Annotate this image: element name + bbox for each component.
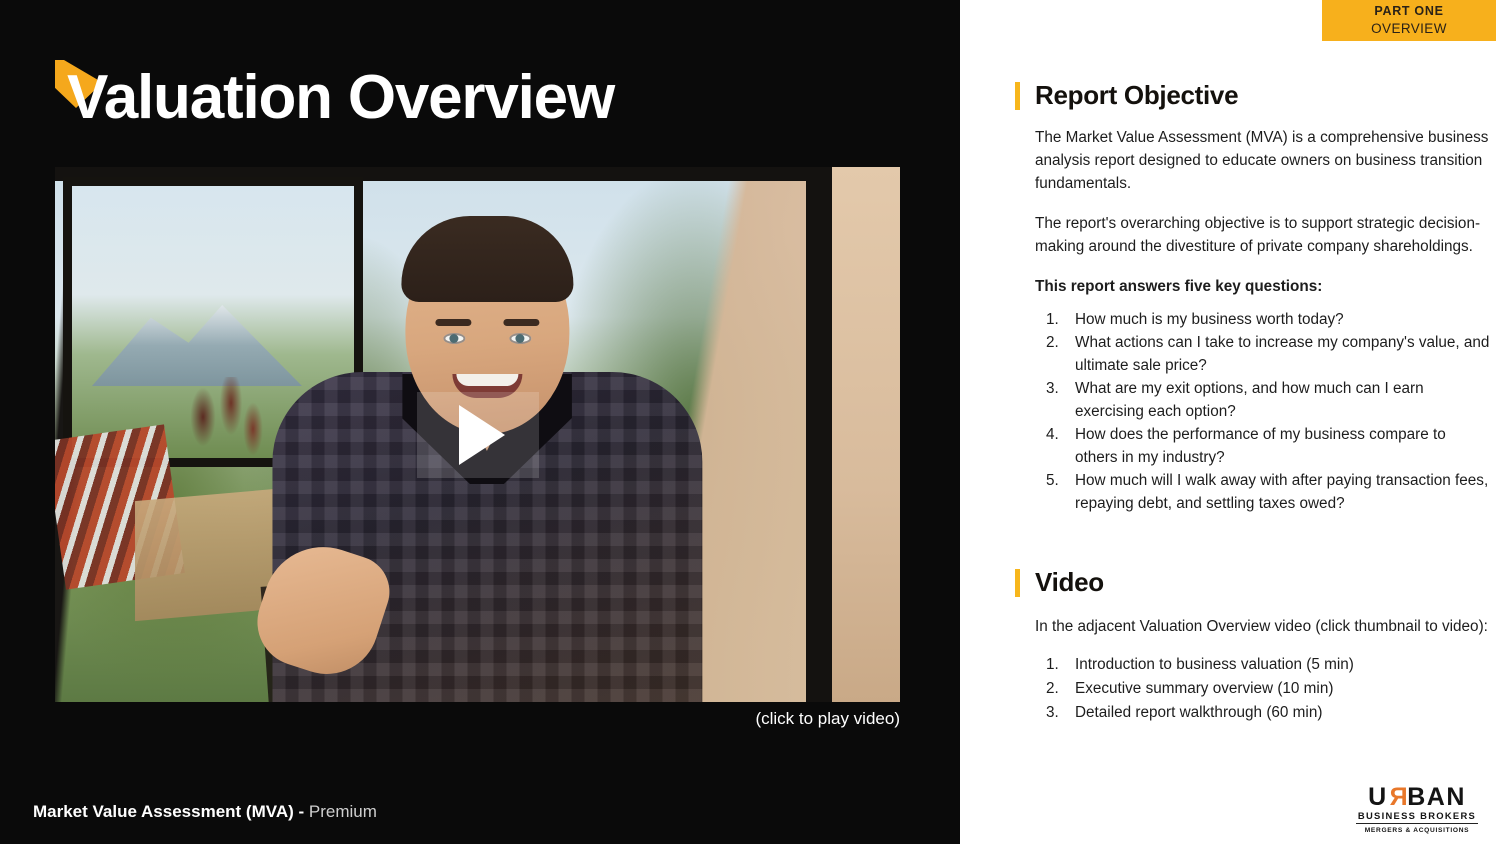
heading-accent-bar	[1015, 569, 1020, 597]
urban-business-brokers-logo: URBAN BUSINESS BROKERS MERGERS & ACQUISI…	[1356, 784, 1478, 836]
presenter-eye-left	[443, 333, 465, 344]
footer-title-light: Premium	[304, 802, 377, 821]
logo-letters-ban: BAN	[1407, 783, 1466, 811]
presenter-hair	[401, 216, 573, 302]
logo-subtitle-secondary: MERGERS & ACQUISITIONS	[1356, 824, 1478, 836]
section-heading-video: Video	[1015, 565, 1490, 599]
part-badge-line2: OVERVIEW	[1322, 20, 1496, 38]
section-heading-text: Video	[1035, 567, 1104, 597]
thumb-right-wall	[832, 167, 900, 702]
list-item: What are my exit options, and how much c…	[1063, 377, 1490, 423]
footer-title-strong: Market Value Assessment (MVA) -	[33, 802, 304, 821]
video-caption: (click to play video)	[55, 708, 900, 730]
part-badge-line1: PART ONE	[1322, 3, 1496, 20]
page-title-wrap: Valuation Overview	[55, 58, 614, 138]
section-heading-text: Report Objective	[1035, 80, 1238, 110]
footer-report-title: Market Value Assessment (MVA) - Premium	[33, 800, 377, 824]
list-item: Executive summary overview (10 min)	[1063, 677, 1490, 701]
list-item: Detailed report walkthrough (60 min)	[1063, 701, 1490, 725]
list-item: How much will I walk away with after pay…	[1063, 469, 1490, 515]
heading-accent-bar	[1015, 82, 1020, 110]
play-triangle-icon	[459, 405, 505, 465]
list-item: What actions can I take to increase my c…	[1063, 331, 1490, 377]
right-content-panel: PART ONE OVERVIEW Report Objective The M…	[960, 0, 1500, 844]
objective-paragraph-2: The report's overarching objective is to…	[1015, 212, 1490, 258]
page-title: Valuation Overview	[55, 59, 614, 137]
video-thumbnail[interactable]	[55, 167, 900, 702]
logo-letter-u: U	[1368, 783, 1388, 811]
video-intro-text: In the adjacent Valuation Overview video…	[1015, 613, 1490, 641]
left-dark-panel: Valuation Overview	[0, 0, 960, 844]
logo-wordmark: URBAN	[1356, 784, 1478, 810]
objective-lead-in: This report answers five key questions:	[1015, 275, 1490, 298]
logo-letter-r: R	[1388, 784, 1408, 810]
key-questions-list: How much is my business worth today? Wha…	[1015, 308, 1490, 515]
thumb-right-window-frame	[806, 167, 832, 702]
play-button-overlay[interactable]	[417, 392, 539, 478]
list-item: Introduction to business valuation (5 mi…	[1063, 653, 1490, 677]
part-badge: PART ONE OVERVIEW	[1322, 0, 1496, 41]
presenter-brow-right	[503, 319, 539, 326]
objective-paragraph-1: The Market Value Assessment (MVA) is a c…	[1015, 126, 1490, 195]
presenter-brow-left	[435, 319, 471, 326]
logo-subtitle-primary: BUSINESS BROKERS	[1356, 810, 1478, 824]
video-chapters-list: Introduction to business valuation (5 mi…	[1015, 653, 1490, 725]
section-report-objective: Report Objective The Market Value Assess…	[1015, 78, 1490, 515]
section-video: Video In the adjacent Valuation Overview…	[1015, 565, 1490, 725]
list-item: How much is my business worth today?	[1063, 308, 1490, 331]
slide-valuation-overview: Valuation Overview	[0, 0, 1500, 844]
list-item: How does the performance of my business …	[1063, 423, 1490, 469]
section-heading-report-objective: Report Objective	[1015, 78, 1490, 112]
presenter-eye-right	[509, 333, 531, 344]
